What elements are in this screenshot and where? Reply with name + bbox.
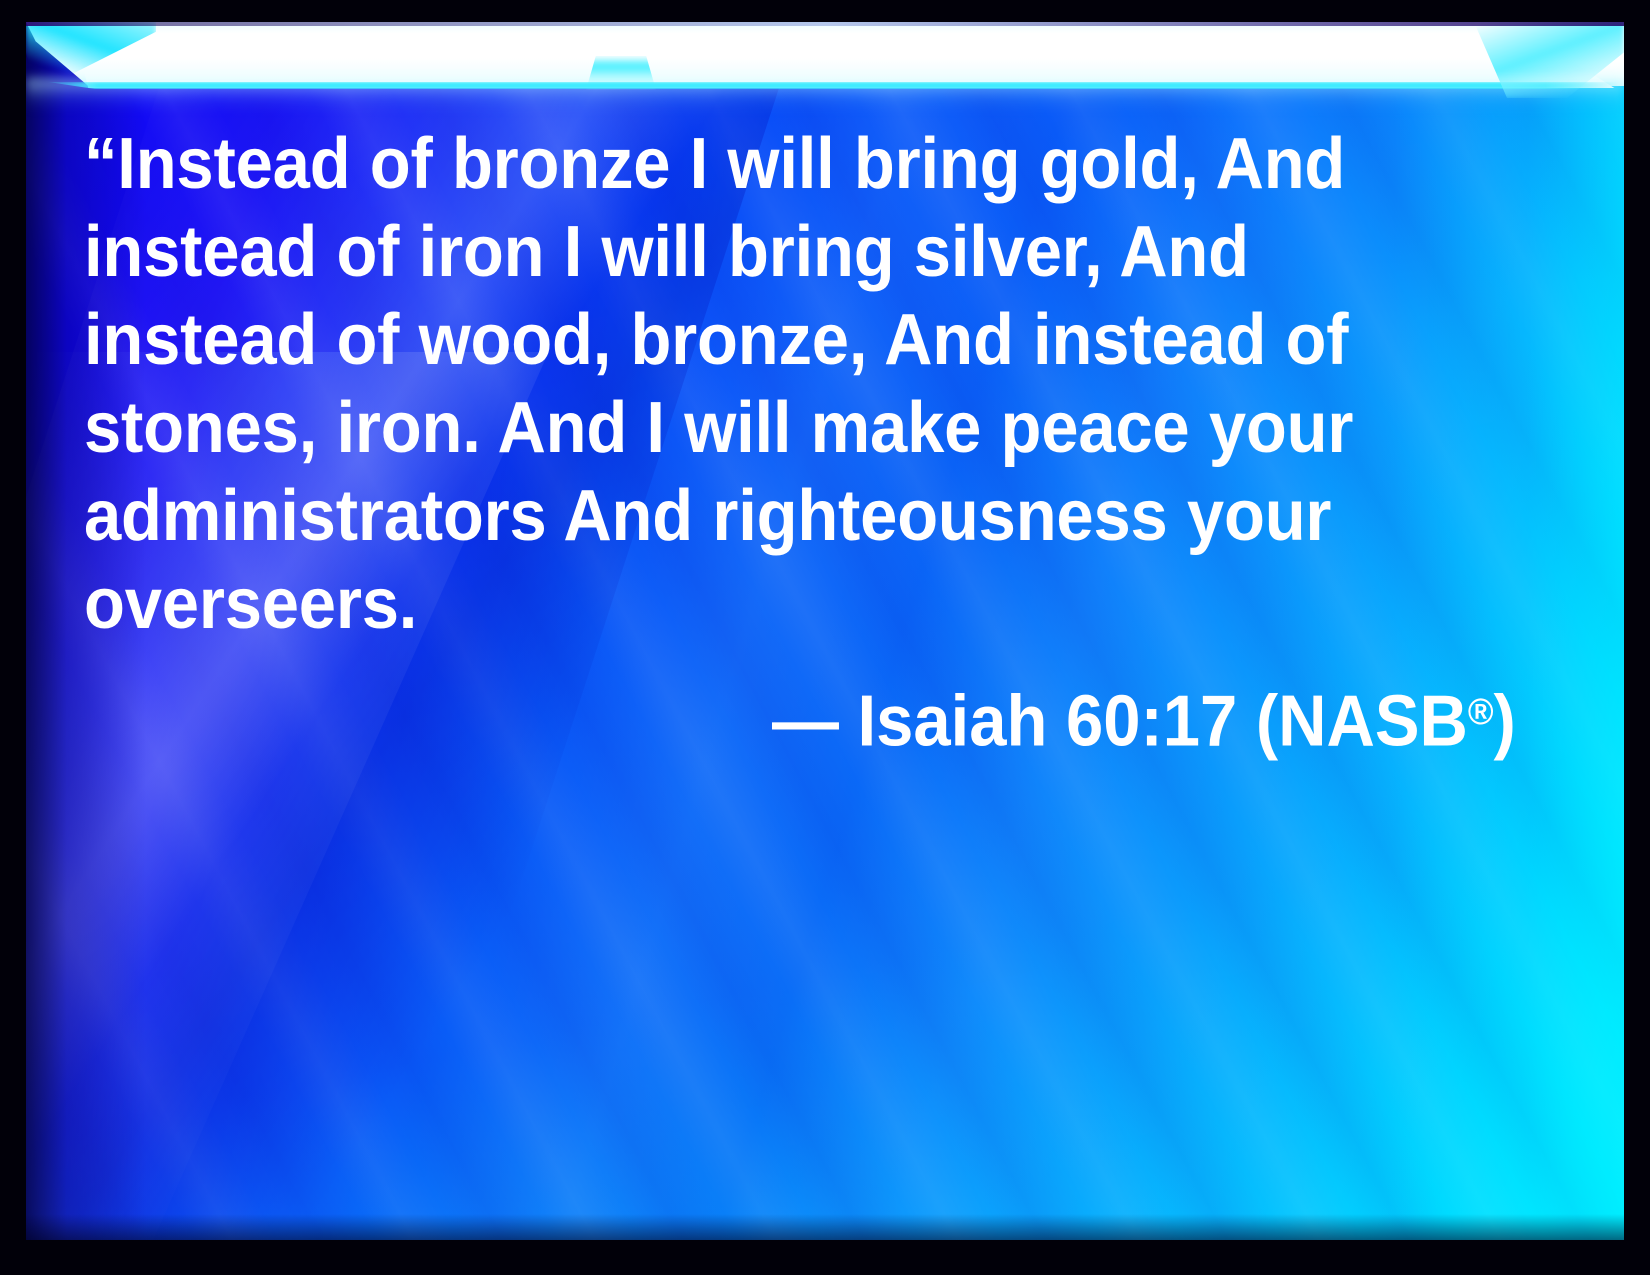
band-top-seam <box>26 22 1624 26</box>
citation-suffix: ) <box>1494 682 1516 762</box>
citation-line: — Isaiah 60:17 (NASB®) <box>84 648 1544 765</box>
slide-stage: “Instead of bronze I will bring gold, An… <box>0 0 1650 1275</box>
header-glow-band <box>26 22 1624 122</box>
band-underglow <box>26 78 1624 112</box>
slide-canvas: “Instead of bronze I will bring gold, An… <box>26 22 1624 1240</box>
scripture-quote-text: “Instead of bronze I will bring gold, An… <box>84 120 1442 648</box>
background-bottom-vignette <box>26 1214 1624 1240</box>
citation-prefix: — Isaiah 60:17 (NASB <box>772 682 1468 762</box>
scripture-citation: — Isaiah 60:17 (NASB®) <box>772 668 1516 765</box>
quote-block: “Instead of bronze I will bring gold, An… <box>84 120 1544 765</box>
registered-trademark-icon: ® <box>1468 690 1494 732</box>
